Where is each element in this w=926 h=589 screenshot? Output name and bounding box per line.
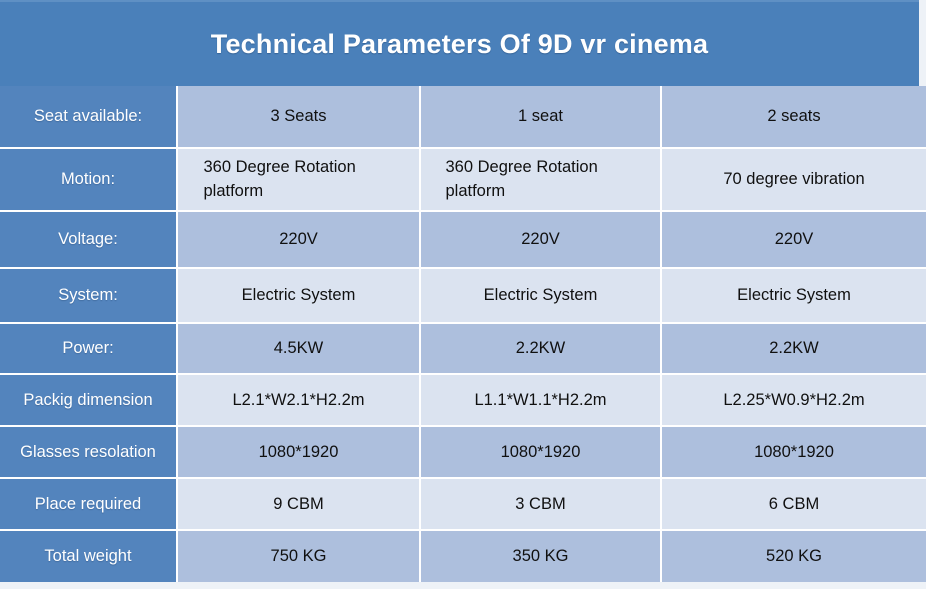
cell-total-weight-col2: 350 KG (420, 530, 661, 582)
cell-packing-dimension-col2: L1.1*W1.1*H2.2m (420, 374, 661, 426)
cell-motion-col3: 70 degree vibration (661, 148, 926, 211)
row-label-power: Power: (0, 323, 177, 374)
table-row: Total weight 750 KG 350 KG 520 KG (0, 530, 926, 582)
table-row: Packig dimension L2.1*W2.1*H2.2m L1.1*W1… (0, 374, 926, 426)
technical-parameters-table: Seat available: 3 Seats 1 seat 2 seats M… (0, 86, 926, 582)
spec-sheet: Technical Parameters Of 9D vr cinema Sea… (0, 0, 926, 589)
cell-seat-available-col1: 3 Seats (177, 86, 420, 148)
table-row: Voltage: 220V 220V 220V (0, 211, 926, 268)
row-label-voltage: Voltage: (0, 211, 177, 268)
row-label-total-weight: Total weight (0, 530, 177, 582)
cell-total-weight-col1: 750 KG (177, 530, 420, 582)
cell-seat-available-col2: 1 seat (420, 86, 661, 148)
cell-system-col2: Electric System (420, 268, 661, 323)
cell-system-col3: Electric System (661, 268, 926, 323)
cell-packing-dimension-col3: L2.25*W0.9*H2.2m (661, 374, 926, 426)
table-row: System: Electric System Electric System … (0, 268, 926, 323)
row-label-place-required: Place required (0, 478, 177, 530)
cell-power-col3: 2.2KW (661, 323, 926, 374)
row-label-motion: Motion: (0, 148, 177, 211)
table-row: Glasses resolation 1080*1920 1080*1920 1… (0, 426, 926, 478)
cell-voltage-col2: 220V (420, 211, 661, 268)
cell-glasses-resolution-col2: 1080*1920 (420, 426, 661, 478)
cell-system-col1: Electric System (177, 268, 420, 323)
cell-total-weight-col3: 520 KG (661, 530, 926, 582)
cell-voltage-col1: 220V (177, 211, 420, 268)
row-label-glasses-resolution: Glasses resolation (0, 426, 177, 478)
row-label-seat-available: Seat available: (0, 86, 177, 148)
cell-glasses-resolution-col1: 1080*1920 (177, 426, 420, 478)
row-label-packing-dimension: Packig dimension (0, 374, 177, 426)
cell-power-col2: 2.2KW (420, 323, 661, 374)
cell-packing-dimension-col1: L2.1*W2.1*H2.2m (177, 374, 420, 426)
title-bar: Technical Parameters Of 9D vr cinema (0, 0, 919, 86)
cell-seat-available-col3: 2 seats (661, 86, 926, 148)
row-label-system: System: (0, 268, 177, 323)
table-row: Power: 4.5KW 2.2KW 2.2KW (0, 323, 926, 374)
cell-voltage-col3: 220V (661, 211, 926, 268)
table-row: Place required 9 CBM 3 CBM 6 CBM (0, 478, 926, 530)
cell-glasses-resolution-col3: 1080*1920 (661, 426, 926, 478)
table-row: Seat available: 3 Seats 1 seat 2 seats (0, 86, 926, 148)
page-title: Technical Parameters Of 9D vr cinema (211, 29, 708, 60)
cell-place-required-col2: 3 CBM (420, 478, 661, 530)
cell-motion-col1: 360 Degree Rotation platform (177, 148, 420, 211)
cell-place-required-col1: 9 CBM (177, 478, 420, 530)
cell-power-col1: 4.5KW (177, 323, 420, 374)
cell-place-required-col3: 6 CBM (661, 478, 926, 530)
cell-motion-col2: 360 Degree Rotation platform (420, 148, 661, 211)
table-row: Motion: 360 Degree Rotation platform 360… (0, 148, 926, 211)
